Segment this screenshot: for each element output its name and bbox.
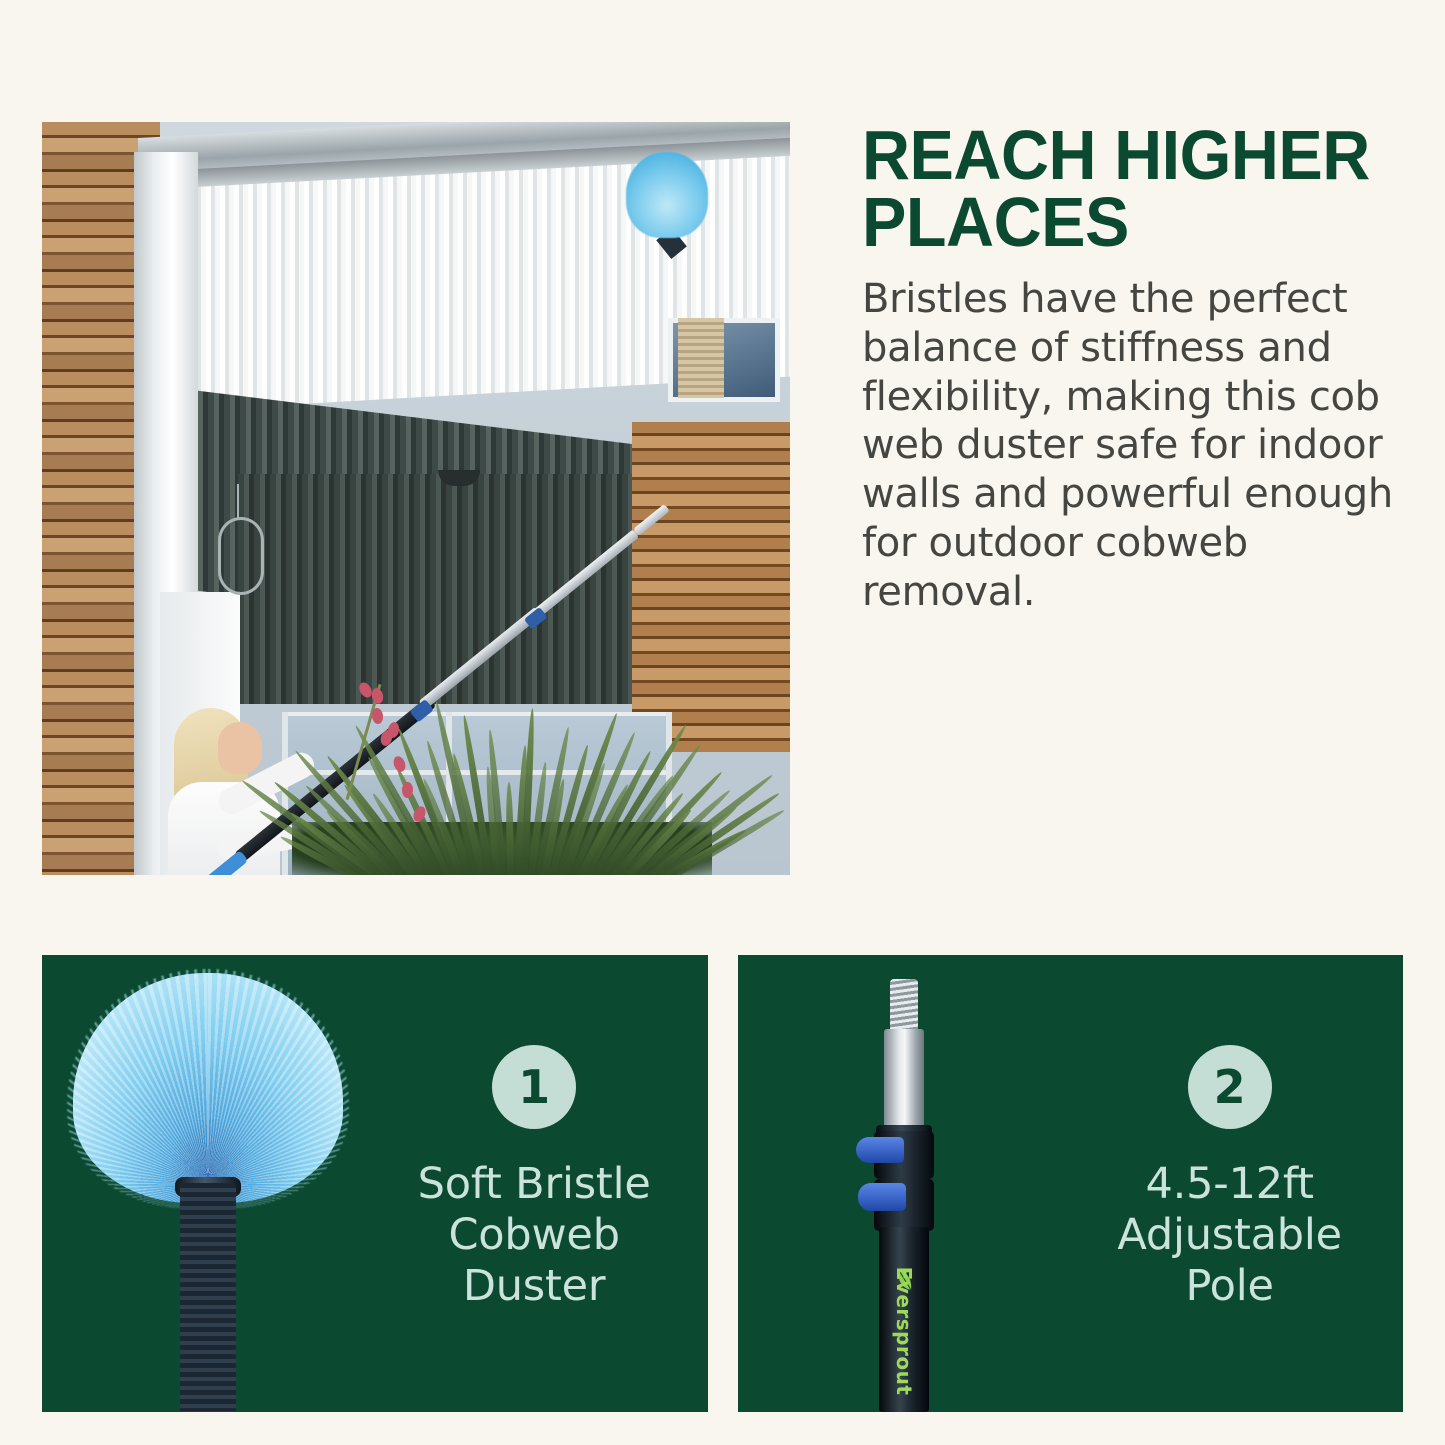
photo-window-blind (678, 318, 724, 398)
pole-silver-section (884, 1029, 924, 1129)
hero-photo (42, 122, 790, 875)
step-badge-2: 2 (1188, 1045, 1272, 1129)
photo-duster-head (626, 152, 708, 238)
photo-basket-wire (237, 484, 239, 520)
hero-section: REACH HIGHER PLACES Bristles have the pe… (42, 122, 1403, 875)
photo-ornamental-grass (342, 682, 682, 875)
duster-illustration (42, 955, 375, 1412)
feature-cards: 1 Soft Bristle Cobweb Duster (42, 955, 1403, 1412)
duster-handle (180, 1183, 236, 1411)
feature-label-pole: 4.5-12ft Adjustable Pole (1070, 1159, 1389, 1311)
page-title: REACH HIGHER PLACES (862, 122, 1376, 255)
feature-card-duster-copy: 1 Soft Bristle Cobweb Duster (375, 955, 708, 1412)
pole-flip-lock-lever-lower (858, 1183, 906, 1211)
pole-assembly: Eversprout (844, 979, 964, 1412)
photo-hanging-basket (218, 517, 264, 595)
pole-brand-label: Eversprout (892, 1267, 916, 1396)
feature-card-duster: 1 Soft Bristle Cobweb Duster (42, 955, 708, 1412)
pole-threaded-tip (890, 979, 918, 1031)
photo-person-face (218, 722, 262, 774)
step-badge-1: 1 (492, 1045, 576, 1129)
hero-text-column: REACH HIGHER PLACES Bristles have the pe… (824, 122, 1403, 875)
photo-post-edge (134, 152, 154, 875)
feature-card-pole-copy: 2 4.5-12ft Adjustable Pole (1070, 955, 1403, 1412)
pole-illustration: Eversprout (738, 955, 1071, 1412)
feature-card-pole: Eversprout 2 4.5-12ft Adjustable Pole (738, 955, 1404, 1412)
product-infographic: REACH HIGHER PLACES Bristles have the pe… (0, 0, 1445, 1445)
pole-flip-lock-lever-upper (856, 1137, 904, 1163)
hero-description: Bristles have the perfect balance of sti… (862, 275, 1403, 617)
feature-label-duster: Soft Bristle Cobweb Duster (375, 1159, 694, 1311)
